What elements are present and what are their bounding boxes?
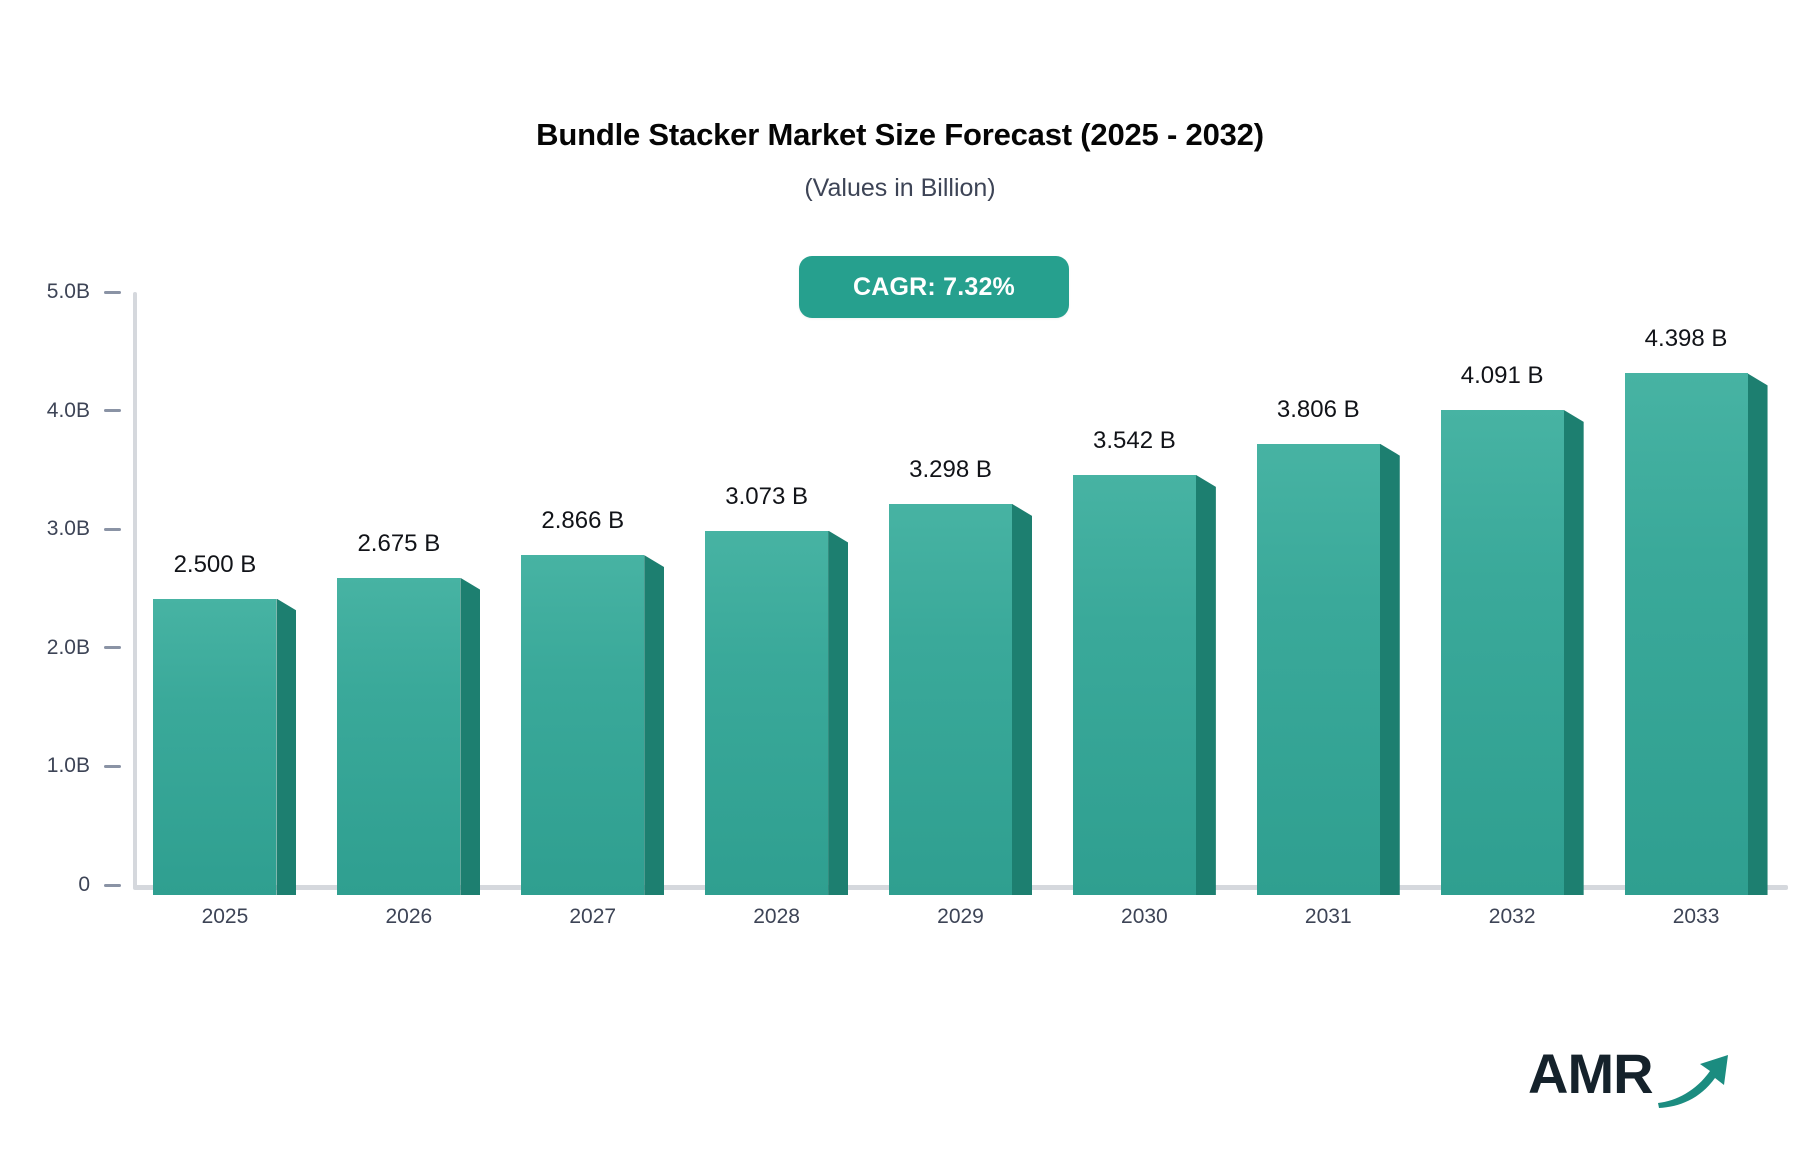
- bar-front-face: [1073, 475, 1196, 895]
- chart-canvas: Bundle Stacker Market Size Forecast (202…: [0, 0, 1800, 1156]
- y-axis-tick-mark: [104, 409, 121, 412]
- bar-front-face: [1257, 444, 1380, 895]
- chart-title: Bundle Stacker Market Size Forecast (202…: [0, 117, 1800, 153]
- y-axis-tick-mark: [104, 765, 121, 768]
- y-axis-tick-label: 1.0B: [47, 754, 90, 778]
- bar[interactable]: 3.298 B: [889, 504, 1012, 895]
- bar-front-face: [153, 599, 276, 896]
- bar-side-face: [276, 599, 296, 896]
- amr-logo: AMR: [1528, 1043, 1728, 1115]
- bar-value-label: 4.398 B: [1645, 325, 1728, 353]
- y-axis-tick: 0: [0, 875, 133, 895]
- bar-value-label: 3.542 B: [1093, 427, 1176, 455]
- bar-side-face: [644, 555, 664, 895]
- bar[interactable]: 2.500 B: [153, 599, 276, 896]
- bar-front-face: [889, 504, 1012, 895]
- bar-value-label: 3.073 B: [725, 483, 808, 511]
- y-axis-tick: 3.0B: [0, 519, 133, 539]
- x-axis-label: 2029: [937, 905, 984, 929]
- x-axis-label: 2025: [202, 905, 249, 929]
- y-axis-tick-label: 3.0B: [47, 517, 90, 541]
- bar[interactable]: 4.091 B: [1441, 410, 1564, 895]
- chart-subtitle: (Values in Billion): [0, 174, 1800, 203]
- y-axis-tick: 4.0B: [0, 401, 133, 421]
- x-axis-label: 2026: [385, 905, 432, 929]
- x-axis-label: 2032: [1489, 905, 1536, 929]
- growth-arrow-icon: [1656, 1047, 1732, 1109]
- y-axis-tick: 5.0B: [0, 282, 133, 302]
- y-axis-tick-label: 4.0B: [47, 399, 90, 423]
- x-axis-label: 2028: [753, 905, 800, 929]
- bar-front-face: [1625, 373, 1748, 895]
- bar-value-label: 4.091 B: [1461, 362, 1544, 390]
- y-axis-tick-label: 2.0B: [47, 636, 90, 660]
- plot-area: 2.500 B2.675 B2.866 B3.073 B3.298 B3.542…: [133, 292, 1793, 890]
- y-axis-tick-mark: [104, 884, 121, 887]
- bar[interactable]: 4.398 B: [1625, 373, 1748, 895]
- x-axis-label: 2031: [1305, 905, 1352, 929]
- bar-side-face: [1012, 504, 1032, 895]
- bar-side-face: [1196, 475, 1216, 895]
- bar[interactable]: 3.806 B: [1257, 444, 1380, 895]
- x-axis-label: 2030: [1121, 905, 1168, 929]
- y-axis-tick: 1.0B: [0, 756, 133, 776]
- bar-value-label: 3.806 B: [1277, 396, 1360, 424]
- bar[interactable]: 2.866 B: [521, 555, 644, 895]
- x-axis-label: 2033: [1673, 905, 1720, 929]
- bar-value-label: 2.675 B: [357, 530, 440, 558]
- bar[interactable]: 3.073 B: [705, 531, 828, 895]
- bar[interactable]: 2.675 B: [337, 578, 460, 895]
- y-axis-tick-mark: [104, 291, 121, 294]
- bar-front-face: [1441, 410, 1564, 895]
- amr-wordmark: AMR: [1528, 1043, 1653, 1105]
- bar-side-face: [1748, 373, 1768, 895]
- bar-value-label: 3.298 B: [909, 456, 992, 484]
- y-axis-tick-label: 0: [78, 873, 90, 897]
- bar-side-face: [1564, 410, 1584, 895]
- bar-front-face: [521, 555, 644, 895]
- bar[interactable]: 3.542 B: [1073, 475, 1196, 895]
- y-axis-tick-label: 5.0B: [47, 280, 90, 304]
- bar-side-face: [1380, 444, 1400, 895]
- y-axis-tick-mark: [104, 528, 121, 531]
- y-axis-tick: 2.0B: [0, 638, 133, 658]
- bar-value-label: 2.500 B: [174, 551, 257, 579]
- x-axis-label: 2027: [569, 905, 616, 929]
- bar-value-label: 2.866 B: [541, 507, 624, 535]
- y-axis-tick-mark: [104, 646, 121, 649]
- bar-side-face: [460, 578, 480, 895]
- bar-front-face: [705, 531, 828, 895]
- bar-front-face: [337, 578, 460, 895]
- bar-side-face: [828, 531, 848, 895]
